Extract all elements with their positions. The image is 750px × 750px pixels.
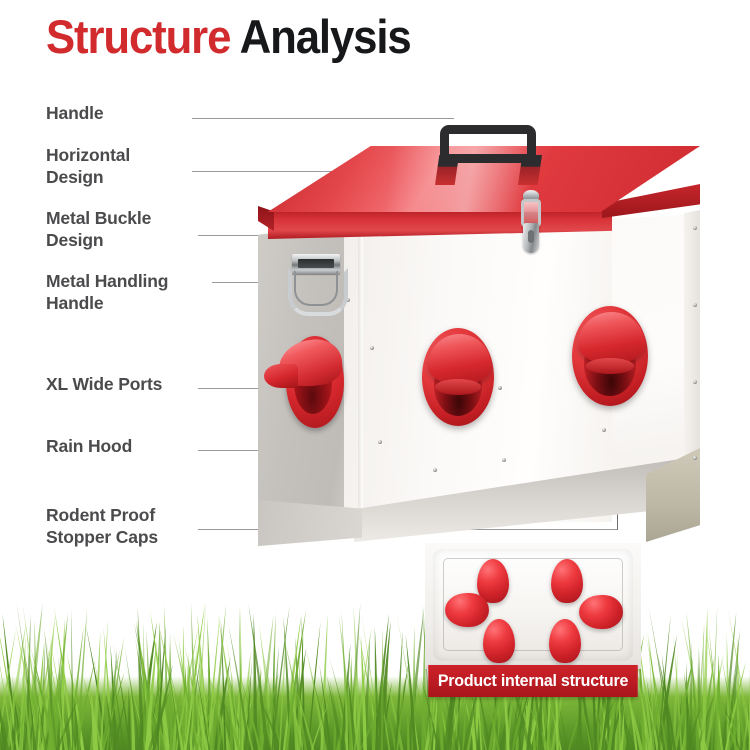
callout-label-horizontal-design: Horizontal Design (46, 145, 130, 188)
handle-bail-inner (294, 270, 338, 306)
page-title: Structure Analysis (46, 8, 411, 66)
screw-4 (693, 456, 697, 460)
metal-handling-handle (286, 254, 344, 310)
port-left-side (264, 336, 350, 428)
stopper-cap-1 (551, 559, 583, 603)
product-box-illustration (250, 118, 710, 538)
port-lip (586, 358, 635, 374)
carry-handle-bar (440, 125, 536, 163)
screw-6 (378, 440, 382, 444)
infographic-canvas: Structure Analysis HandleHorizontal Desi… (0, 0, 750, 750)
stopper-cap-5 (549, 619, 581, 663)
screw-11 (602, 428, 606, 432)
inset-caption: Product internal structure (428, 665, 638, 697)
metal-buckle-latch (518, 190, 544, 256)
callout-label-metal-handling: Metal Handling Handle (46, 271, 168, 314)
screw-5 (370, 346, 374, 350)
callout-label-metal-buckle: Metal Buckle Design (46, 208, 151, 251)
screw-2 (693, 303, 697, 307)
port-right (572, 306, 648, 406)
inset-photo (425, 543, 641, 669)
screw-9 (498, 386, 502, 390)
internal-structure-inset: Product internal structure (425, 543, 641, 703)
callout-label-handle: Handle (46, 103, 103, 125)
stopper-cap-2 (445, 593, 489, 627)
callout-label-xl-wide-ports: XL Wide Ports (46, 374, 162, 396)
carry-handle-icon (440, 125, 536, 163)
inset-tray (433, 549, 633, 661)
screw-10 (502, 458, 506, 462)
screw-3 (693, 380, 697, 384)
port-lip (435, 379, 481, 395)
port-center (422, 328, 494, 426)
box-corner-edge (358, 218, 363, 528)
stopper-cap-4 (483, 619, 515, 663)
latch-hook (523, 223, 539, 253)
callout-label-rodent-proof: Rodent Proof Stopper Caps (46, 505, 158, 548)
port-spout (264, 364, 298, 388)
title-word-structure: Structure (46, 10, 230, 63)
screw-7 (433, 468, 437, 472)
screw-1 (693, 226, 697, 230)
callout-label-rain-hood: Rain Hood (46, 436, 132, 458)
title-word-analysis: Analysis (240, 10, 411, 63)
stopper-cap-3 (579, 595, 623, 629)
